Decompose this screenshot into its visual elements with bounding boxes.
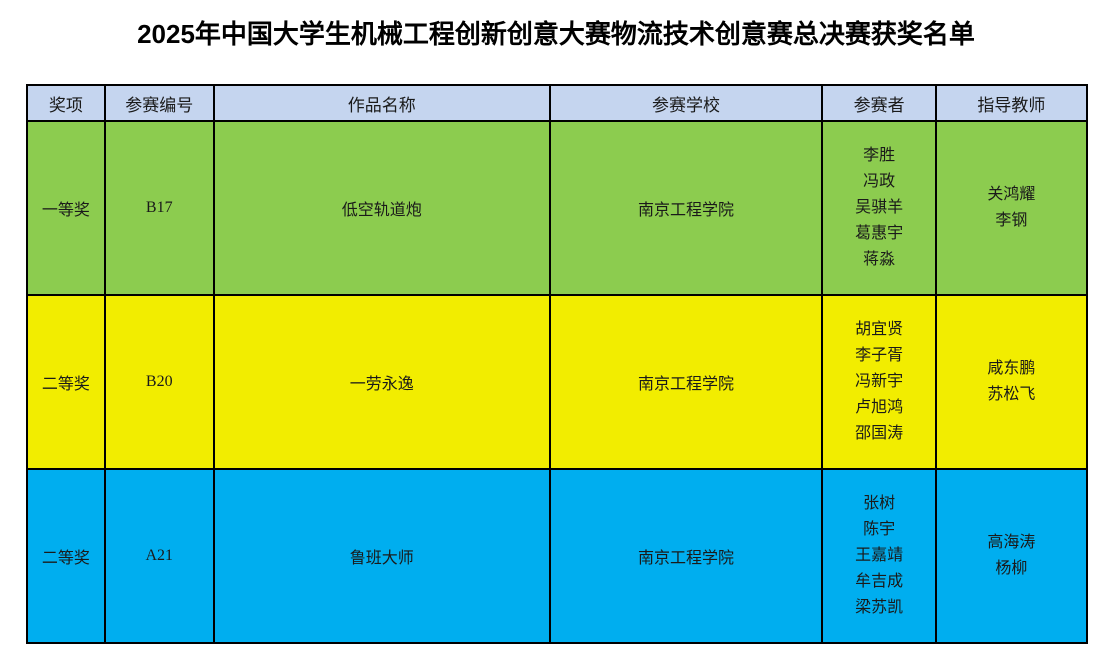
table-row: 二等奖 A21 鲁班大师 南京工程学院 张树陈宇王嘉靖牟吉成梁苏凯 高海涛杨柳: [27, 469, 1087, 643]
person-name: 吴骐羊: [855, 195, 903, 221]
member-list: 胡宜贤李子胥冯新宇卢旭鸿邵国涛: [823, 317, 934, 447]
teacher-list: 咸东鹏苏松飞: [937, 356, 1086, 408]
person-name: 李钢: [995, 208, 1027, 234]
teacher-list: 关鸿耀李钢: [937, 182, 1086, 234]
column-header-code: 参赛编号: [105, 85, 214, 121]
cell-code: B17: [105, 121, 214, 295]
cell-award: 二等奖: [27, 469, 105, 643]
column-header-award: 奖项: [27, 85, 105, 121]
cell-work: 鲁班大师: [214, 469, 550, 643]
table-body: 一等奖 B17 低空轨道炮 南京工程学院 李胜冯政吴骐羊葛惠宇蒋淼 关鸿耀李钢 …: [27, 121, 1087, 643]
cell-teachers: 高海涛杨柳: [936, 469, 1087, 643]
cell-work: 低空轨道炮: [214, 121, 550, 295]
cell-school: 南京工程学院: [550, 469, 823, 643]
page-root: 2025年中国大学生机械工程创新创意大赛物流技术创意赛总决赛获奖名单 奖项 参赛…: [0, 0, 1112, 660]
member-list: 李胜冯政吴骐羊葛惠宇蒋淼: [823, 143, 934, 273]
cell-teachers: 咸东鹏苏松飞: [936, 295, 1087, 469]
person-name: 梁苏凯: [855, 595, 903, 621]
column-header-member: 参赛者: [822, 85, 935, 121]
cell-members: 张树陈宇王嘉靖牟吉成梁苏凯: [822, 469, 935, 643]
person-name: 陈宇: [863, 517, 895, 543]
table-header: 奖项 参赛编号 作品名称 参赛学校 参赛者 指导教师: [27, 85, 1087, 121]
cell-members: 胡宜贤李子胥冯新宇卢旭鸿邵国涛: [822, 295, 935, 469]
cell-school: 南京工程学院: [550, 295, 823, 469]
page-title: 2025年中国大学生机械工程创新创意大赛物流技术创意赛总决赛获奖名单: [0, 14, 1112, 51]
award-table: 奖项 参赛编号 作品名称 参赛学校 参赛者 指导教师 一等奖 B17 低空轨道炮…: [26, 84, 1088, 644]
column-header-school: 参赛学校: [550, 85, 823, 121]
person-name: 邵国涛: [855, 421, 903, 447]
person-name: 王嘉靖: [855, 543, 903, 569]
cell-award: 二等奖: [27, 295, 105, 469]
person-name: 牟吉成: [855, 569, 903, 595]
cell-work: 一劳永逸: [214, 295, 550, 469]
person-name: 卢旭鸿: [855, 395, 903, 421]
person-name: 苏松飞: [987, 382, 1035, 408]
person-name: 杨柳: [995, 556, 1027, 582]
cell-school: 南京工程学院: [550, 121, 823, 295]
cell-code: B20: [105, 295, 214, 469]
person-name: 高海涛: [987, 530, 1035, 556]
cell-members: 李胜冯政吴骐羊葛惠宇蒋淼: [822, 121, 935, 295]
member-list: 张树陈宇王嘉靖牟吉成梁苏凯: [823, 491, 934, 621]
teacher-list: 高海涛杨柳: [937, 530, 1086, 582]
person-name: 蒋淼: [863, 247, 895, 273]
person-name: 李子胥: [855, 343, 903, 369]
award-table-container: 奖项 参赛编号 作品名称 参赛学校 参赛者 指导教师 一等奖 B17 低空轨道炮…: [26, 84, 1088, 644]
table-row: 一等奖 B17 低空轨道炮 南京工程学院 李胜冯政吴骐羊葛惠宇蒋淼 关鸿耀李钢: [27, 121, 1087, 295]
person-name: 胡宜贤: [855, 317, 903, 343]
person-name: 冯政: [863, 169, 895, 195]
person-name: 关鸿耀: [987, 182, 1035, 208]
person-name: 冯新宇: [855, 369, 903, 395]
table-row: 二等奖 B20 一劳永逸 南京工程学院 胡宜贤李子胥冯新宇卢旭鸿邵国涛 咸东鹏苏…: [27, 295, 1087, 469]
column-header-work: 作品名称: [214, 85, 550, 121]
person-name: 李胜: [863, 143, 895, 169]
table-header-row: 奖项 参赛编号 作品名称 参赛学校 参赛者 指导教师: [27, 85, 1087, 121]
person-name: 葛惠宇: [855, 221, 903, 247]
person-name: 张树: [863, 491, 895, 517]
column-header-teacher: 指导教师: [936, 85, 1087, 121]
person-name: 咸东鹏: [987, 356, 1035, 382]
cell-code: A21: [105, 469, 214, 643]
cell-teachers: 关鸿耀李钢: [936, 121, 1087, 295]
cell-award: 一等奖: [27, 121, 105, 295]
